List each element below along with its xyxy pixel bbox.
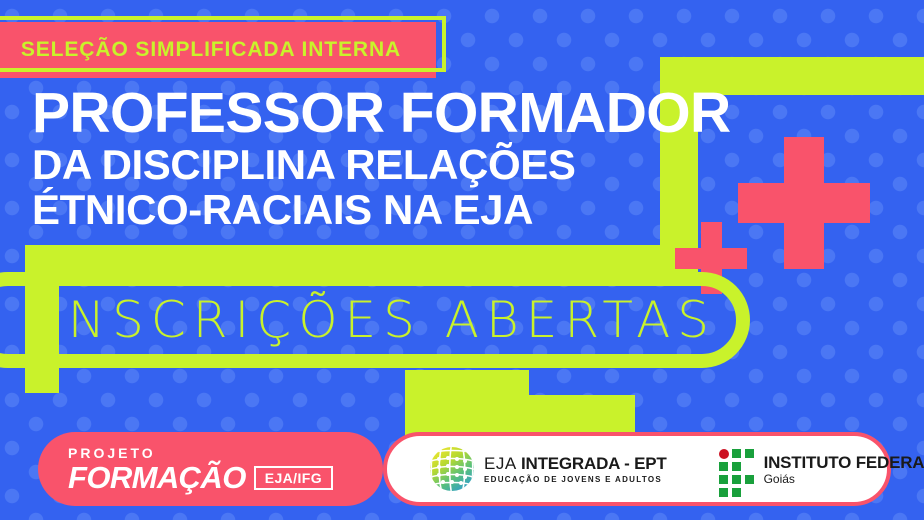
logo-bar: EJA INTEGRADA - EPT EDUCAÇÃO DE JOVENS E… bbox=[383, 432, 891, 506]
registration-open-label: INSCRIÇÕES ABERTAS bbox=[46, 272, 746, 368]
if-logo-subtitle: Goiás bbox=[764, 472, 924, 486]
project-badge: PROJETO FORMAÇÃO EJA/IFG bbox=[38, 432, 383, 506]
instituto-federal-text: INSTITUTO FEDERAL Goiás bbox=[764, 453, 924, 486]
title-line-1: PROFESSOR FORMADOR bbox=[32, 84, 731, 142]
title-line-2: DA DISCIPLINA RELAÇÕES bbox=[32, 142, 731, 187]
if-cell bbox=[732, 449, 741, 458]
instituto-federal-logo: INSTITUTO FEDERAL Goiás bbox=[719, 449, 924, 489]
if-cell bbox=[719, 488, 728, 497]
if-cell bbox=[732, 462, 741, 471]
project-tag: EJA/IFG bbox=[254, 466, 333, 490]
eja-logo-text: EJA INTEGRADA - EPT EDUCAÇÃO DE JOVENS E… bbox=[484, 454, 667, 485]
eja-integrada-logo: EJA INTEGRADA - EPT EDUCAÇÃO DE JOVENS E… bbox=[429, 446, 667, 492]
selection-badge: SELEÇÃO SIMPLIFICADA INTERNA bbox=[0, 22, 438, 80]
if-cell bbox=[745, 475, 754, 484]
plus-vertical-bar bbox=[784, 137, 824, 269]
if-cell bbox=[719, 462, 728, 471]
eja-logo-title: EJA INTEGRADA - EPT bbox=[484, 454, 667, 473]
coral-plus-large-icon bbox=[738, 137, 870, 269]
promotional-banner: SELEÇÃO SIMPLIFICADA INTERNA PROFESSOR F… bbox=[0, 0, 924, 520]
if-red-dot bbox=[719, 449, 729, 459]
page-title: PROFESSOR FORMADOR DA DISCIPLINA RELAÇÕE… bbox=[32, 84, 731, 232]
eja-logo-title-bold: INTEGRADA - EPT bbox=[521, 454, 667, 473]
badge-label: SELEÇÃO SIMPLIFICADA INTERNA bbox=[0, 22, 436, 78]
if-cell bbox=[732, 475, 741, 484]
eja-logo-subtitle: EDUCAÇÃO DE JOVENS E ADULTOS bbox=[484, 474, 667, 485]
globe-icon bbox=[429, 446, 475, 492]
if-cell bbox=[745, 449, 754, 458]
eja-logo-title-light: EJA bbox=[484, 454, 521, 473]
if-cell bbox=[719, 475, 728, 484]
if-logo-title: INSTITUTO FEDERAL bbox=[764, 453, 924, 472]
project-label: PROJETO bbox=[68, 445, 383, 461]
if-cell bbox=[732, 488, 741, 497]
project-name-row: FORMAÇÃO EJA/IFG bbox=[68, 461, 383, 494]
title-line-3: ÉTNICO-RACIAIS NA EJA bbox=[32, 187, 731, 232]
instituto-federal-grid-icon bbox=[719, 449, 755, 489]
project-name: FORMAÇÃO bbox=[68, 461, 246, 494]
